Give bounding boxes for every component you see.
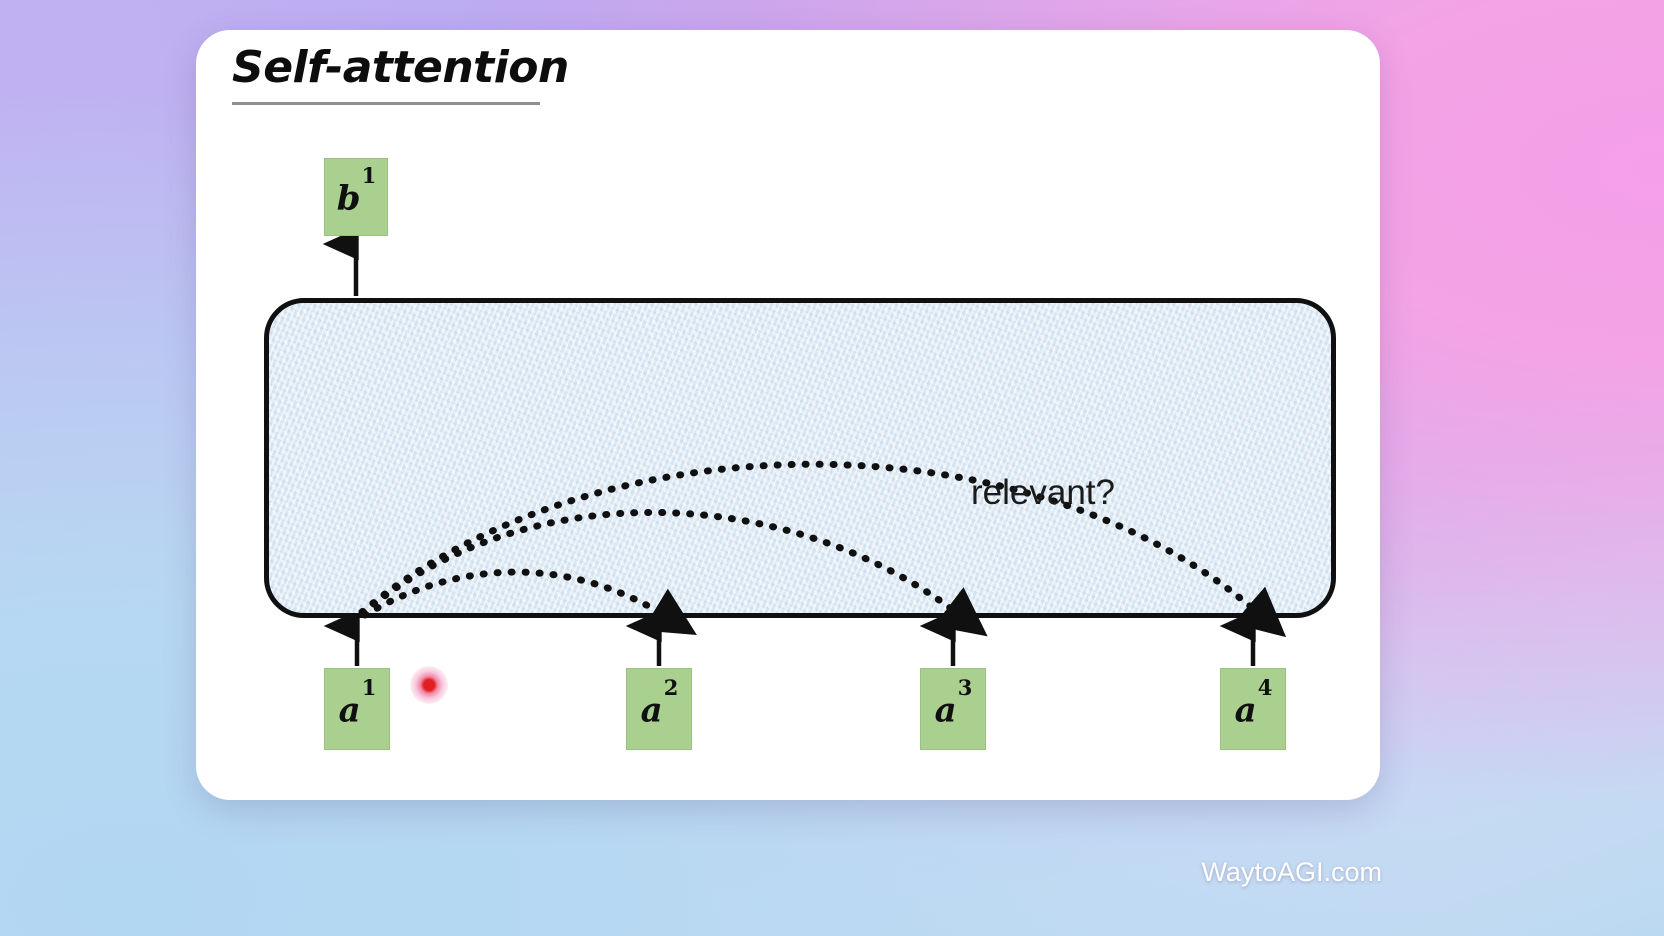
vector-box-a1-label: a1 [339,691,376,727]
vector-box-a4-label: a4 [1235,691,1272,727]
relevant-annotation: relevant? [971,473,1115,513]
vector-box-b1-label: b1 [337,179,375,215]
cursor-pointer-dot [410,666,448,704]
vector-box-a1[interactable]: a1 [324,668,390,750]
self-attention-block: relevant? [264,298,1336,618]
vector-box-a4[interactable]: a4 [1220,668,1286,750]
watermark-label: WaytoAGI.com [1201,857,1382,888]
vector-box-a2[interactable]: a2 [626,668,692,750]
vector-box-a3[interactable]: a3 [920,668,986,750]
page-title: Self-attention [232,42,569,93]
vector-box-a3-label: a3 [935,691,972,727]
slide-card: Self-attention [196,30,1380,800]
vector-box-b1[interactable]: b1 [324,158,388,236]
relevance-arc-layer [269,303,1341,623]
vector-box-a2-label: a2 [641,691,678,727]
title-underline [232,102,540,105]
